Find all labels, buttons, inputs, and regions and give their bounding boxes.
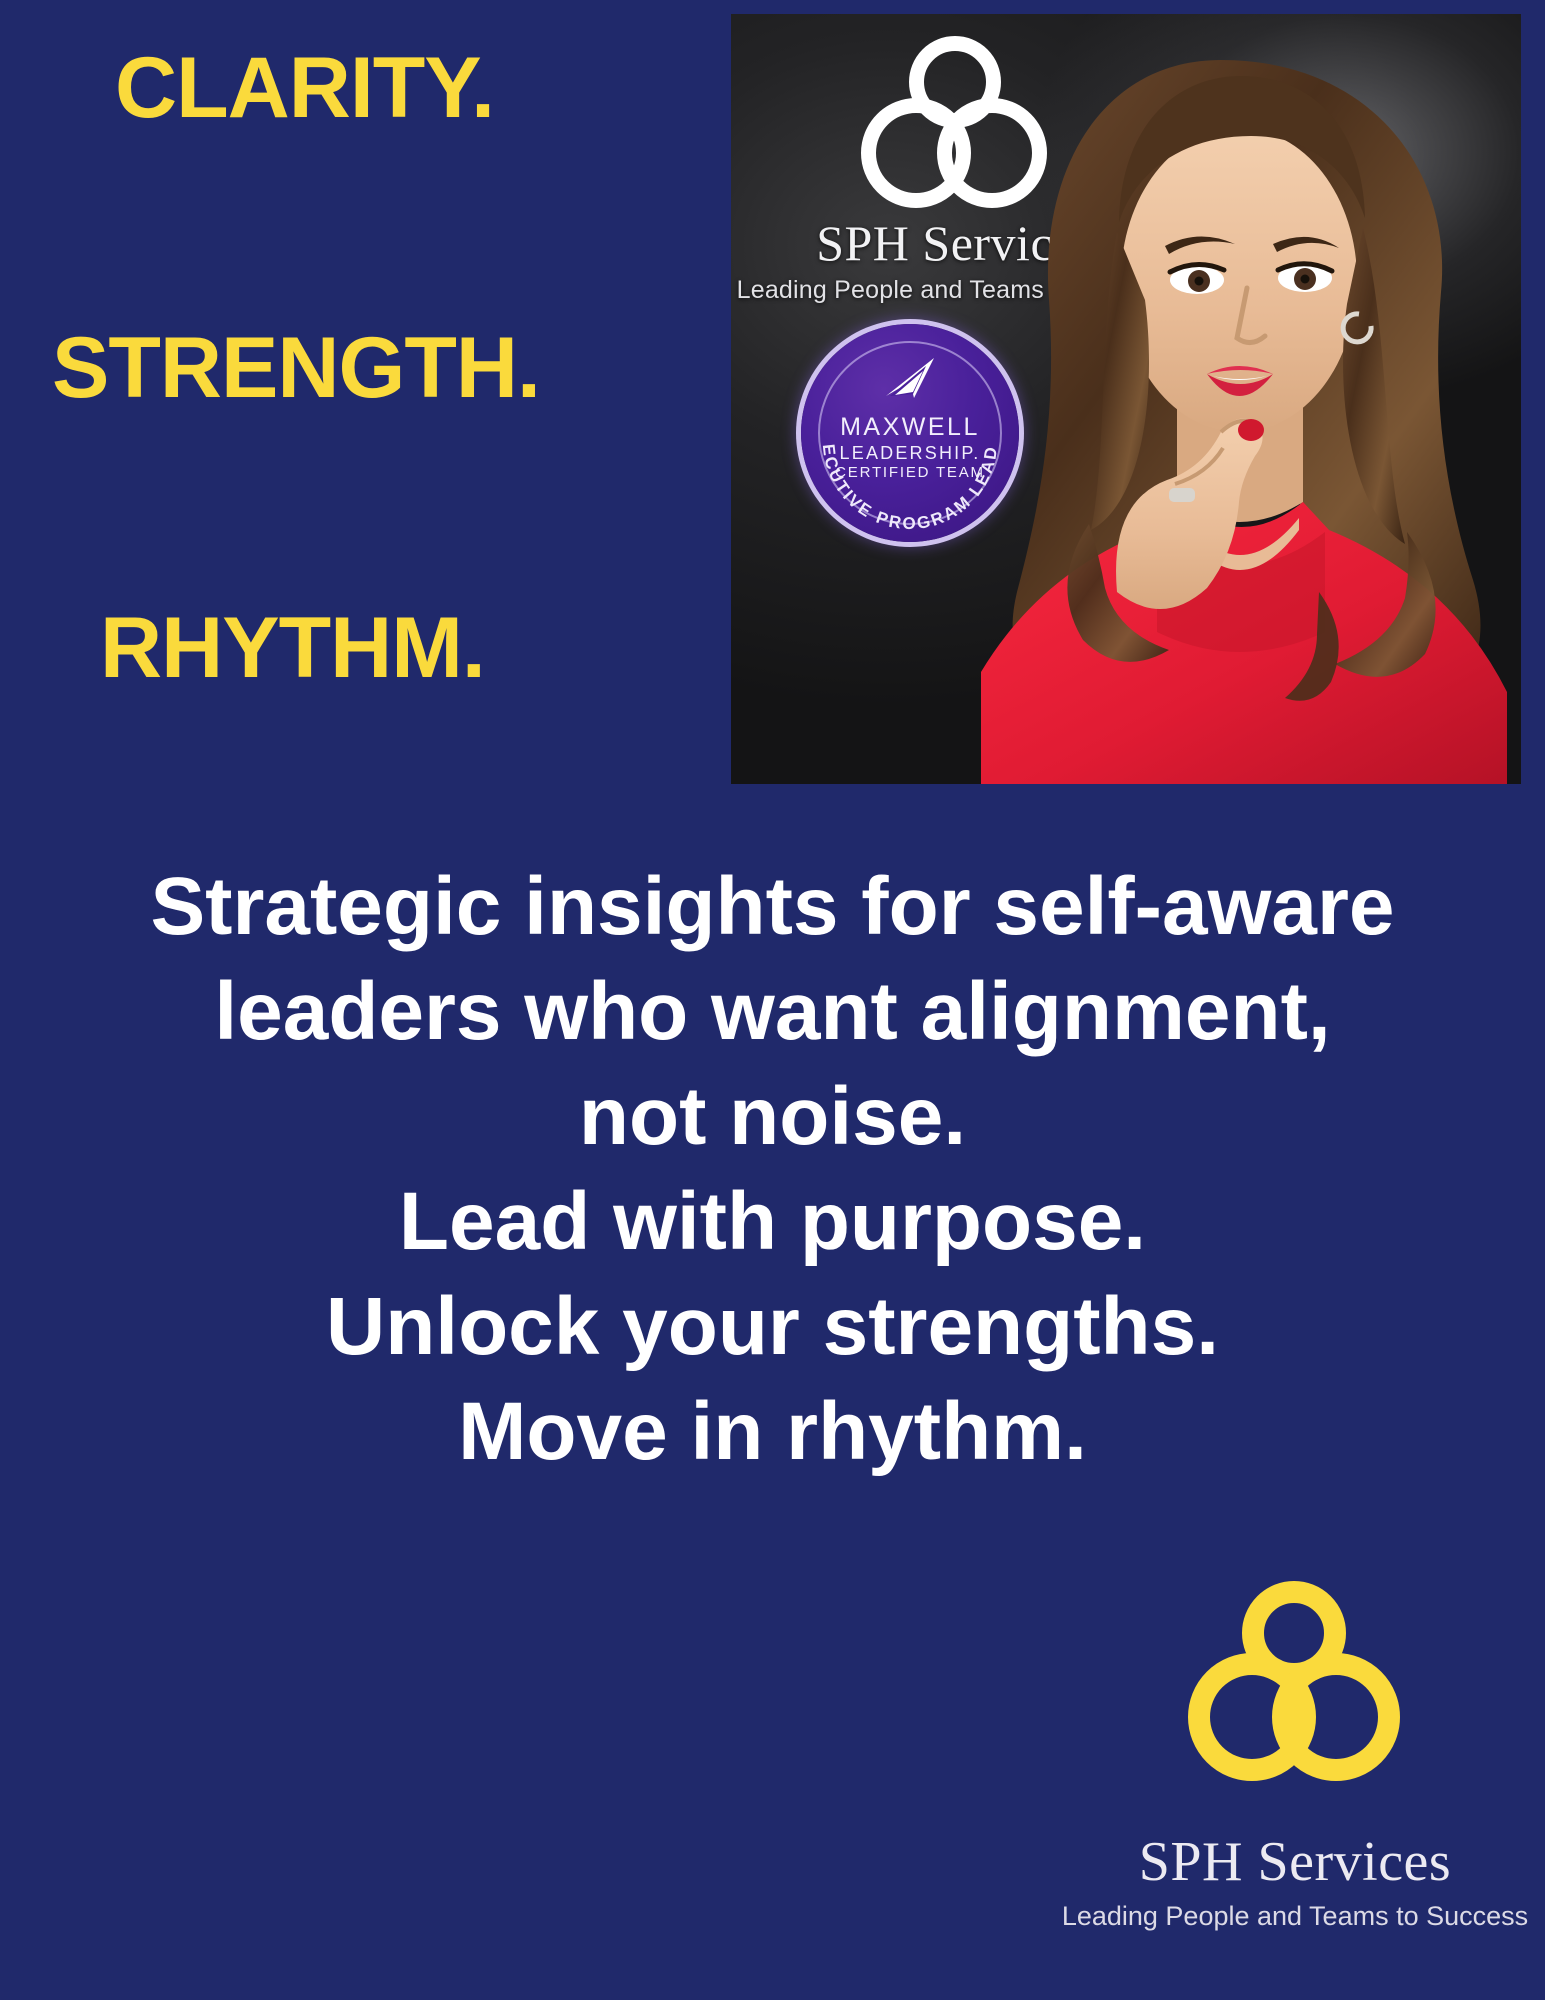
body-line-3: not noise. [0,1065,1545,1170]
logo-ring-right [1272,1653,1400,1781]
headline-word-rhythm: RHYTHM. [100,605,485,691]
body-line-1: Strategic insights for self-aware [0,855,1545,960]
footer-brand-tagline: Leading People and Teams to Success [1060,1901,1530,1932]
footer-brand-lockup: SPH Services Leading People and Teams to… [1060,1575,1530,1975]
headline-word-clarity: CLARITY. [115,45,494,131]
body-line-2: leaders who want alignment, [0,960,1545,1065]
body-copy-block: Strategic insights for self-aware leader… [0,855,1545,1485]
three-interlocking-circles-icon [1188,1581,1400,1781]
headline-word-strength: STRENGTH. [52,325,540,411]
body-line-6: Move in rhythm. [0,1380,1545,1485]
woman-portrait-image [921,32,1521,784]
body-line-5: Unlock your strengths. [0,1275,1545,1380]
body-line-4: Lead with purpose. [0,1170,1545,1275]
poster-canvas: CLARITY. STRENGTH. RHYTHM. SPH Services … [0,0,1545,2000]
footer-brand-name: SPH Services [1060,1830,1530,1894]
portrait-photo: SPH Services Leading People and Teams to… [731,14,1521,784]
